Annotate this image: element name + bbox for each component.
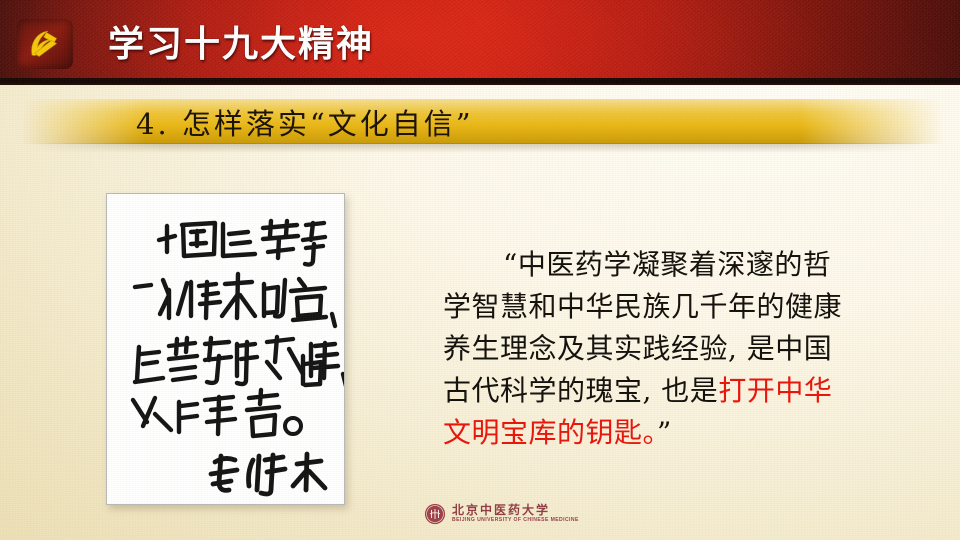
hammer-and-sickle-icon	[17, 19, 73, 69]
slide-canvas: 学习十九大精神 4. 怎样落实“文化自信”	[0, 0, 960, 540]
subtitle-bar-shadow	[0, 143, 960, 153]
handwriting-image-card	[106, 193, 345, 505]
quote-text: “中医药学凝聚着深邃的哲 学智慧和中华民族几千年的健康 养生理念及其实践经验, …	[443, 244, 913, 454]
quote-line-4: 古代科学的瑰宝, 也是打开中华	[443, 370, 913, 412]
quote-line-2: 学智慧和中华民族几千年的健康	[443, 286, 913, 328]
university-seal-icon	[424, 503, 446, 525]
footer-logo: 北京中医药大学 BEIJING UNIVERSITY OF CHINESE ME…	[424, 503, 576, 525]
footer-logo-en: BEIJING UNIVERSITY OF CHINESE MEDICINE	[452, 517, 579, 524]
footer-logo-cn: 北京中医药大学	[452, 504, 576, 517]
page-title: 学习十九大精神	[108, 15, 374, 67]
header-divider	[0, 78, 960, 85]
quote-line-3: 养生理念及其实践经验, 是中国	[443, 328, 913, 370]
subtitle-text: 4. 怎样落实“文化自信”	[0, 99, 960, 144]
quote-line-5: 文明宝库的钥匙。”	[443, 412, 913, 454]
quote-line-1: “中医药学凝聚着深邃的哲	[443, 244, 913, 286]
